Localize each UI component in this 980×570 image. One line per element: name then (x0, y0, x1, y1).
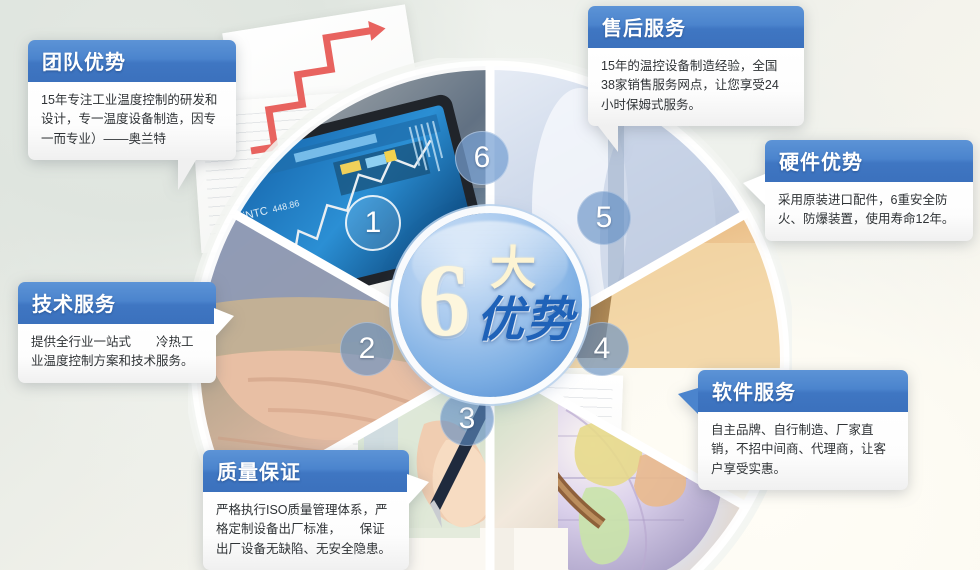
segment-number-5[interactable]: 5 (577, 191, 631, 245)
callout-after-sales-text: 15年的温控设备制造经验，全国38家销售服务网点，让您享受24小时保姆式服务。 (588, 48, 804, 126)
callout-technical-service[interactable]: 技术服务 提供全行业一站式 冷热工业温度控制方案和技术服务。 (18, 282, 216, 383)
callout-tech-text: 提供全行业一站式 冷热工业温度控制方案和技术服务。 (18, 324, 216, 383)
callout-software-service[interactable]: 软件服务 自主品牌、自行制造、厂家直销，不招中间商、代理商，让客户享受实惠。 (698, 370, 908, 490)
callout-quality-text: 严格执行ISO质量管理体系，严格定制设备出厂标准， 保证出厂设备无缺陷、无安全隐… (203, 492, 409, 570)
callout-software-title: 软件服务 (698, 370, 908, 412)
callout-after-sales-tail (598, 126, 618, 152)
segment-number-3[interactable]: 3 (440, 392, 494, 446)
callout-quality-assurance[interactable]: 质量保证 严格执行ISO质量管理体系，严格定制设备出厂标准， 保证出厂设备无缺陷… (203, 450, 409, 570)
callout-hardware-tail (743, 174, 765, 205)
infographic-canvas: iNTC 448.86 1 2 3 4 5 6 6 大 (0, 0, 980, 570)
center-unit: 大 (490, 245, 536, 291)
center-badge: 6 大 优势 (398, 213, 582, 397)
callout-quality-title: 质量保证 (203, 450, 409, 492)
callout-hardware-title: 硬件优势 (765, 140, 973, 182)
callout-software-text: 自主品牌、自行制造、厂家直销，不招中间商、代理商，让客户享受实惠。 (698, 412, 908, 490)
callout-team-text: 15年专注工业温度控制的研发和设计，专一温度设备制造，因专一而专业）——奥兰特 (28, 82, 236, 160)
callout-hardware-advantage[interactable]: 硬件优势 采用原装进口配件，6重安全防火、防爆装置，使用寿命12年。 (765, 140, 973, 241)
callout-team-advantage[interactable]: 团队优势 15年专注工业温度控制的研发和设计，专一温度设备制造，因专一而专业）—… (28, 40, 236, 160)
callout-quality-tail (407, 474, 429, 506)
segment-number-6[interactable]: 6 (455, 131, 509, 185)
callout-hardware-text: 采用原装进口配件，6重安全防火、防爆装置，使用寿命12年。 (765, 182, 973, 241)
segment-number-4[interactable]: 4 (575, 322, 629, 376)
callout-tech-tail (214, 308, 234, 338)
center-number: 6 (418, 249, 470, 353)
callout-after-sales-title: 售后服务 (588, 6, 804, 48)
segment-number-1[interactable]: 1 (345, 195, 401, 251)
callout-team-title: 团队优势 (28, 40, 236, 82)
callout-tech-title: 技术服务 (18, 282, 216, 324)
callout-team-tail (178, 160, 196, 190)
callout-after-sales[interactable]: 售后服务 15年的温控设备制造经验，全国38家销售服务网点，让您享受24小时保姆… (588, 6, 804, 126)
segment-number-2[interactable]: 2 (340, 322, 394, 376)
center-word: 优势 (476, 297, 574, 345)
callout-software-tail (678, 388, 698, 414)
